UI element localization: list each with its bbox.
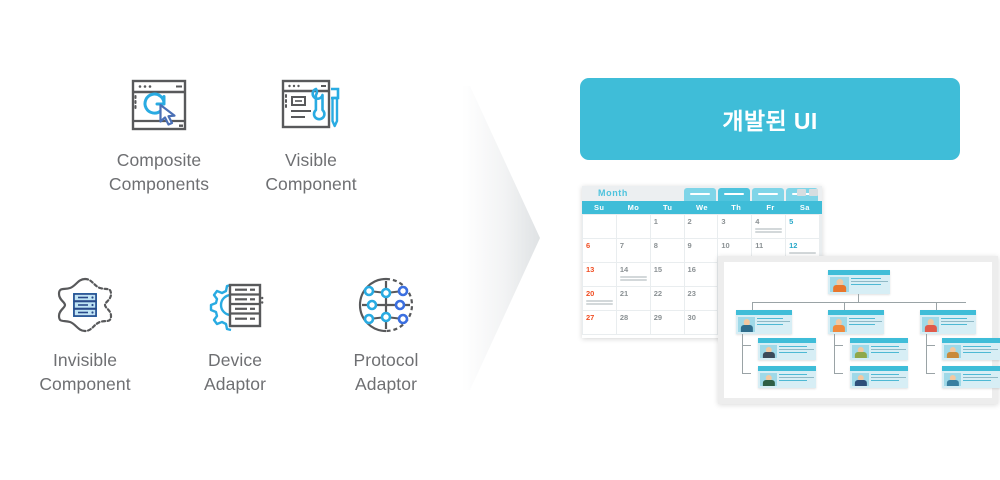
avatar bbox=[852, 345, 869, 358]
calendar-day-header: Su bbox=[582, 201, 616, 214]
calendar-day-number: 4 bbox=[755, 217, 785, 226]
calendar-day-number: 28 bbox=[620, 313, 650, 322]
org-card-body bbox=[850, 371, 908, 388]
network-globe-nodes-icon bbox=[311, 262, 461, 348]
calendar-day-number: 16 bbox=[688, 265, 718, 274]
calendar-day-cell[interactable]: 7 bbox=[617, 239, 650, 262]
org-node-level2-3[interactable] bbox=[920, 310, 976, 334]
calendar-day-number: 2 bbox=[688, 217, 718, 226]
org-node-level3-2[interactable] bbox=[758, 366, 816, 388]
org-node-level2-1[interactable] bbox=[736, 310, 792, 334]
org-connector bbox=[742, 373, 751, 374]
calendar-day-cell[interactable]: 14 bbox=[617, 263, 650, 286]
calendar-event-marker bbox=[620, 276, 650, 281]
calendar-day-number: 8 bbox=[654, 241, 684, 250]
calendar-day-cell[interactable]: 22 bbox=[651, 287, 684, 310]
org-connector bbox=[752, 303, 753, 310]
calendar-day-cell[interactable]: 9 bbox=[685, 239, 718, 262]
browser-cursor-refresh-icon bbox=[84, 62, 234, 148]
calendar-day-number: 1 bbox=[654, 217, 684, 226]
org-card-fields bbox=[851, 277, 888, 292]
org-connector bbox=[834, 345, 843, 346]
calendar-tab-1[interactable] bbox=[684, 188, 716, 201]
calendar-day-header: We bbox=[685, 201, 719, 214]
component-label: Composite Components bbox=[84, 148, 234, 196]
org-node-level2-2[interactable] bbox=[828, 310, 884, 334]
org-connector bbox=[844, 303, 845, 310]
component-card-device[interactable]: Device Adaptor bbox=[160, 262, 310, 396]
calendar-day-cell[interactable]: 5 bbox=[786, 215, 819, 238]
calendar-day-cell[interactable]: 27 bbox=[583, 311, 616, 334]
atom-server-icon bbox=[10, 262, 160, 348]
calendar-day-cell[interactable]: 13 bbox=[583, 263, 616, 286]
calendar-tab-3[interactable] bbox=[752, 188, 784, 201]
component-card-composite[interactable]: Composite Components bbox=[84, 62, 234, 196]
calendar-day-number: 6 bbox=[586, 241, 616, 250]
org-connector bbox=[742, 345, 751, 346]
calendar-day-number: 29 bbox=[654, 313, 684, 322]
avatar bbox=[852, 373, 869, 386]
restore-button[interactable] bbox=[797, 189, 806, 196]
org-card-fields bbox=[871, 345, 906, 358]
right-chevron-arrow-icon bbox=[462, 78, 582, 398]
calendar-day-cell[interactable]: 2 bbox=[685, 215, 718, 238]
calendar-day-number: 20 bbox=[586, 289, 616, 298]
component-gallery: Composite Components bbox=[0, 0, 470, 480]
calendar-event-marker bbox=[586, 300, 616, 305]
org-connector bbox=[858, 294, 859, 302]
calendar-day-cell[interactable] bbox=[583, 215, 616, 238]
org-card-body bbox=[920, 315, 976, 334]
component-card-visible[interactable]: Visible Component bbox=[236, 62, 386, 196]
avatar bbox=[830, 317, 847, 332]
calendar-day-number: 13 bbox=[586, 265, 616, 274]
orgchart-window-mock[interactable] bbox=[718, 256, 998, 404]
org-card-fields bbox=[941, 317, 974, 332]
component-label: Invisible Component bbox=[10, 348, 160, 396]
component-card-protocol[interactable]: Protocol Adaptor bbox=[311, 262, 461, 396]
developed-ui-banner: 개발된 UI bbox=[580, 78, 960, 160]
minimize-button[interactable] bbox=[809, 189, 818, 196]
org-connector bbox=[936, 303, 937, 310]
calendar-day-cell[interactable]: 3 bbox=[718, 215, 751, 238]
calendar-day-cell[interactable]: 6 bbox=[583, 239, 616, 262]
calendar-day-cell[interactable]: 16 bbox=[685, 263, 718, 286]
org-card-fields bbox=[871, 373, 906, 386]
calendar-day-header: Fr bbox=[753, 201, 787, 214]
org-card-body bbox=[758, 371, 816, 388]
org-card-body bbox=[736, 315, 792, 334]
org-card-body bbox=[850, 343, 908, 360]
org-connector bbox=[834, 334, 835, 374]
gear-server-rack-icon bbox=[160, 262, 310, 348]
calendar-day-cell[interactable]: 20 bbox=[583, 287, 616, 310]
org-connector bbox=[926, 334, 927, 374]
calendar-day-cell[interactable]: 29 bbox=[651, 311, 684, 334]
org-card-body bbox=[942, 371, 1000, 388]
calendar-day-cell[interactable]: 8 bbox=[651, 239, 684, 262]
avatar bbox=[922, 317, 939, 332]
calendar-event-marker bbox=[755, 228, 785, 233]
org-card-fields bbox=[779, 373, 814, 386]
org-node-root[interactable] bbox=[828, 270, 890, 294]
org-connector bbox=[752, 302, 966, 303]
calendar-day-number: 3 bbox=[721, 217, 751, 226]
org-connector bbox=[926, 373, 935, 374]
calendar-day-cell[interactable]: 23 bbox=[685, 287, 718, 310]
org-card-body bbox=[828, 315, 884, 334]
calendar-day-number: 12 bbox=[789, 241, 819, 250]
org-card-body bbox=[758, 343, 816, 360]
org-node-level3-4[interactable] bbox=[850, 366, 908, 388]
org-card-body bbox=[942, 343, 1000, 360]
calendar-event-marker bbox=[789, 252, 819, 254]
org-node-level3-1[interactable] bbox=[758, 338, 816, 360]
calendar-day-number: 27 bbox=[586, 313, 616, 322]
org-card-fields bbox=[963, 345, 998, 358]
avatar bbox=[760, 373, 777, 386]
calendar-day-headers: SuMoTuWeThFrSa bbox=[582, 201, 822, 214]
calendar-day-number: 14 bbox=[620, 265, 650, 274]
calendar-day-cell[interactable] bbox=[617, 215, 650, 238]
calendar-day-header: Tu bbox=[651, 201, 685, 214]
calendar-month-label: Month bbox=[598, 188, 628, 198]
avatar bbox=[738, 317, 755, 332]
calendar-day-number: 11 bbox=[755, 241, 785, 250]
org-card-fields bbox=[779, 345, 814, 358]
calendar-day-cell[interactable]: 4 bbox=[752, 215, 785, 238]
calendar-titlebar: Month bbox=[582, 186, 822, 201]
calendar-day-cell[interactable]: 21 bbox=[617, 287, 650, 310]
developed-ui-panel: 개발된 UI Month SuMoTuWeThFrSa 123456789101… bbox=[580, 0, 1000, 480]
calendar-tab-2[interactable] bbox=[718, 188, 750, 201]
org-node-level3-5[interactable] bbox=[942, 338, 1000, 360]
orgchart-canvas bbox=[724, 262, 992, 398]
org-card-fields bbox=[757, 317, 790, 332]
calendar-window-controls[interactable] bbox=[797, 189, 818, 196]
calendar-day-header: Th bbox=[719, 201, 753, 214]
calendar-day-number: 9 bbox=[688, 241, 718, 250]
calendar-day-cell[interactable]: 15 bbox=[651, 263, 684, 286]
avatar bbox=[944, 373, 961, 386]
org-card-body bbox=[828, 275, 890, 294]
component-label: Device Adaptor bbox=[160, 348, 310, 396]
calendar-day-number: 22 bbox=[654, 289, 684, 298]
component-card-invisible[interactable]: Invisible Component bbox=[10, 262, 160, 396]
org-node-level3-3[interactable] bbox=[850, 338, 908, 360]
calendar-day-number: 30 bbox=[688, 313, 718, 322]
org-connector bbox=[834, 373, 843, 374]
calendar-day-cell[interactable]: 1 bbox=[651, 215, 684, 238]
calendar-day-cell[interactable]: 28 bbox=[617, 311, 650, 334]
calendar-day-cell[interactable]: 30 bbox=[685, 311, 718, 334]
component-label: Protocol Adaptor bbox=[311, 348, 461, 396]
calendar-day-header: Sa bbox=[788, 201, 822, 214]
banner-title: 개발된 UI bbox=[722, 102, 817, 136]
component-label: Visible Component bbox=[236, 148, 386, 196]
org-connector bbox=[926, 345, 935, 346]
calendar-day-number: 5 bbox=[789, 217, 819, 226]
org-card-fields bbox=[849, 317, 882, 332]
calendar-day-number: 10 bbox=[721, 241, 751, 250]
calendar-day-number: 7 bbox=[620, 241, 650, 250]
calendar-day-number: 23 bbox=[688, 289, 718, 298]
calendar-day-number: 21 bbox=[620, 289, 650, 298]
org-connector bbox=[742, 334, 743, 374]
window-wrench-screwdriver-icon bbox=[236, 62, 386, 148]
calendar-day-number: 15 bbox=[654, 265, 684, 274]
org-card-fields bbox=[963, 373, 998, 386]
avatar bbox=[944, 345, 961, 358]
org-node-level3-6[interactable] bbox=[942, 366, 1000, 388]
avatar bbox=[830, 277, 849, 292]
avatar bbox=[760, 345, 777, 358]
calendar-day-header: Mo bbox=[616, 201, 650, 214]
